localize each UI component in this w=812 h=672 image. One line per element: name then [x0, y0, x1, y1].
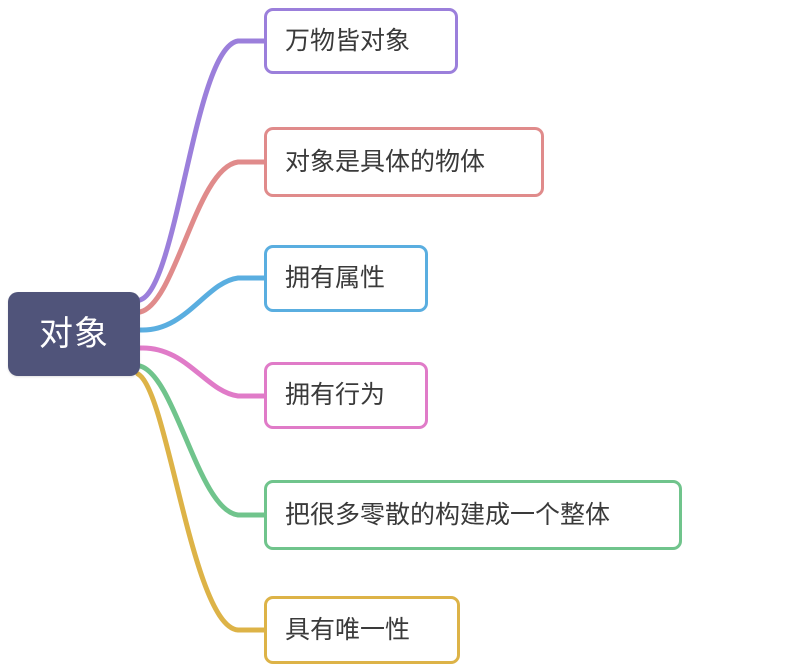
branch-node-label: 万物皆对象 — [267, 29, 410, 54]
branch-node-label: 拥有属性 — [267, 266, 385, 291]
connector-branch-2 — [140, 162, 264, 312]
branch-node-label: 拥有行为 — [267, 383, 385, 408]
branch-node-3[interactable]: 拥有属性 — [264, 245, 428, 312]
connector-branch-3 — [140, 278, 264, 330]
branch-node-label: 把很多零散的构建成一个整体 — [267, 503, 610, 528]
root-node[interactable]: 对象 — [8, 292, 140, 376]
branch-node-4[interactable]: 拥有行为 — [264, 362, 428, 429]
connector-branch-1 — [140, 41, 264, 300]
root-node-label: 对象 — [39, 317, 109, 351]
branch-node-2[interactable]: 对象是具体的物体 — [264, 127, 544, 197]
connector-branch-6 — [138, 374, 264, 630]
connector-branch-5 — [140, 366, 264, 515]
mindmap-canvas: 对象 万物皆对象 对象是具体的物体 拥有属性 拥有行为 把很多零散的构建成一个整… — [0, 0, 812, 672]
branch-node-label: 具有唯一性 — [267, 618, 410, 643]
branch-node-label: 对象是具体的物体 — [267, 150, 485, 175]
branch-node-6[interactable]: 具有唯一性 — [264, 596, 460, 664]
branch-node-5[interactable]: 把很多零散的构建成一个整体 — [264, 480, 682, 550]
branch-node-1[interactable]: 万物皆对象 — [264, 8, 458, 74]
connector-branch-4 — [140, 348, 264, 396]
